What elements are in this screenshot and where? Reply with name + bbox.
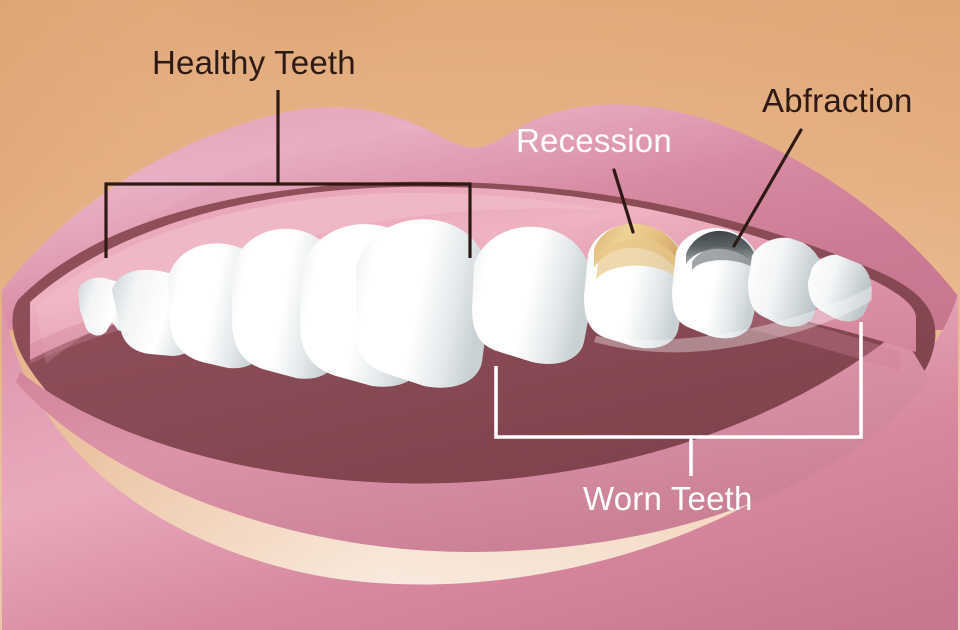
label-recession: Recession [516, 122, 672, 160]
label-healthy-teeth: Healthy Teeth [152, 44, 356, 82]
tooth-9-abfraction [672, 228, 761, 338]
tooth-8-recession [584, 224, 687, 349]
label-abfraction: Abfraction [762, 82, 913, 120]
tooth-7 [472, 227, 593, 364]
dental-diagram-canvas: Healthy Teeth Recession Abfraction Worn … [0, 0, 960, 630]
label-worn-teeth: Worn Teeth [583, 480, 753, 518]
